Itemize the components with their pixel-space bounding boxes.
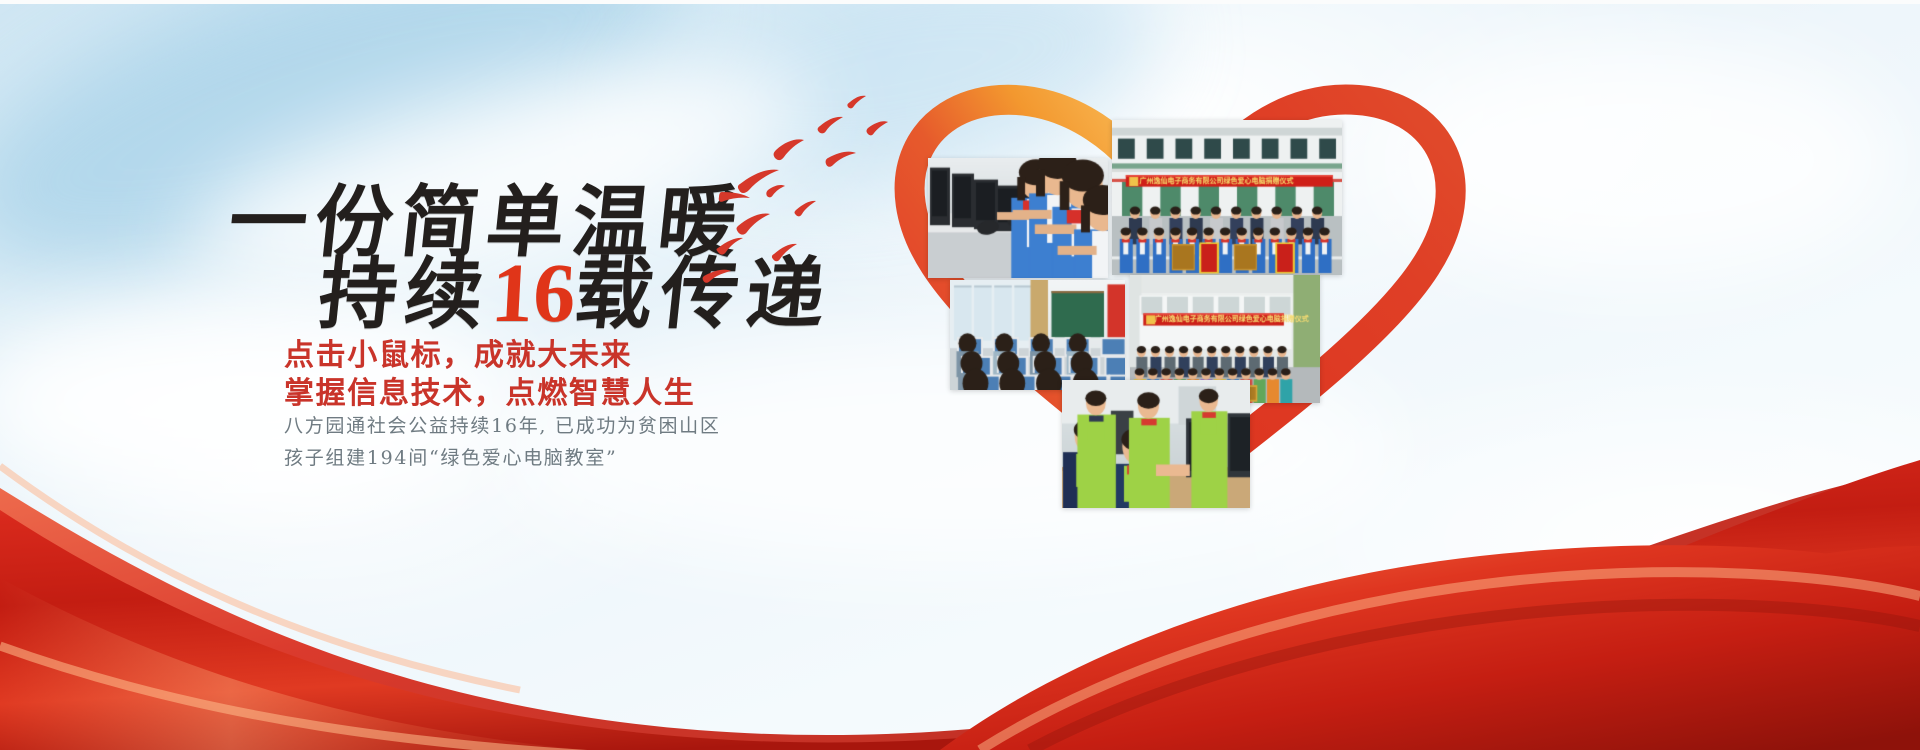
years-number: 16 — [488, 245, 577, 342]
photo-donation-ceremony-1 — [1112, 120, 1342, 275]
banner-stage: 一份简单温暖 持续16载传递 点击小鼠标，成就大未来 掌握信息技术，点燃智慧人生… — [0, 0, 1920, 750]
photo-kids-computers-row — [928, 158, 1108, 278]
top-edge-line — [0, 0, 1920, 4]
red-silk-ribbon-decor — [0, 450, 1920, 750]
headline-prefix: 持续 — [315, 249, 496, 340]
body-text-line-1: 八方园通社会公益持续16年, 已成功为贫困山区 — [284, 411, 721, 438]
photo-classroom-wide — [950, 280, 1125, 390]
subheadline-line-2: 掌握信息技术，点燃智慧人生 — [284, 368, 695, 412]
